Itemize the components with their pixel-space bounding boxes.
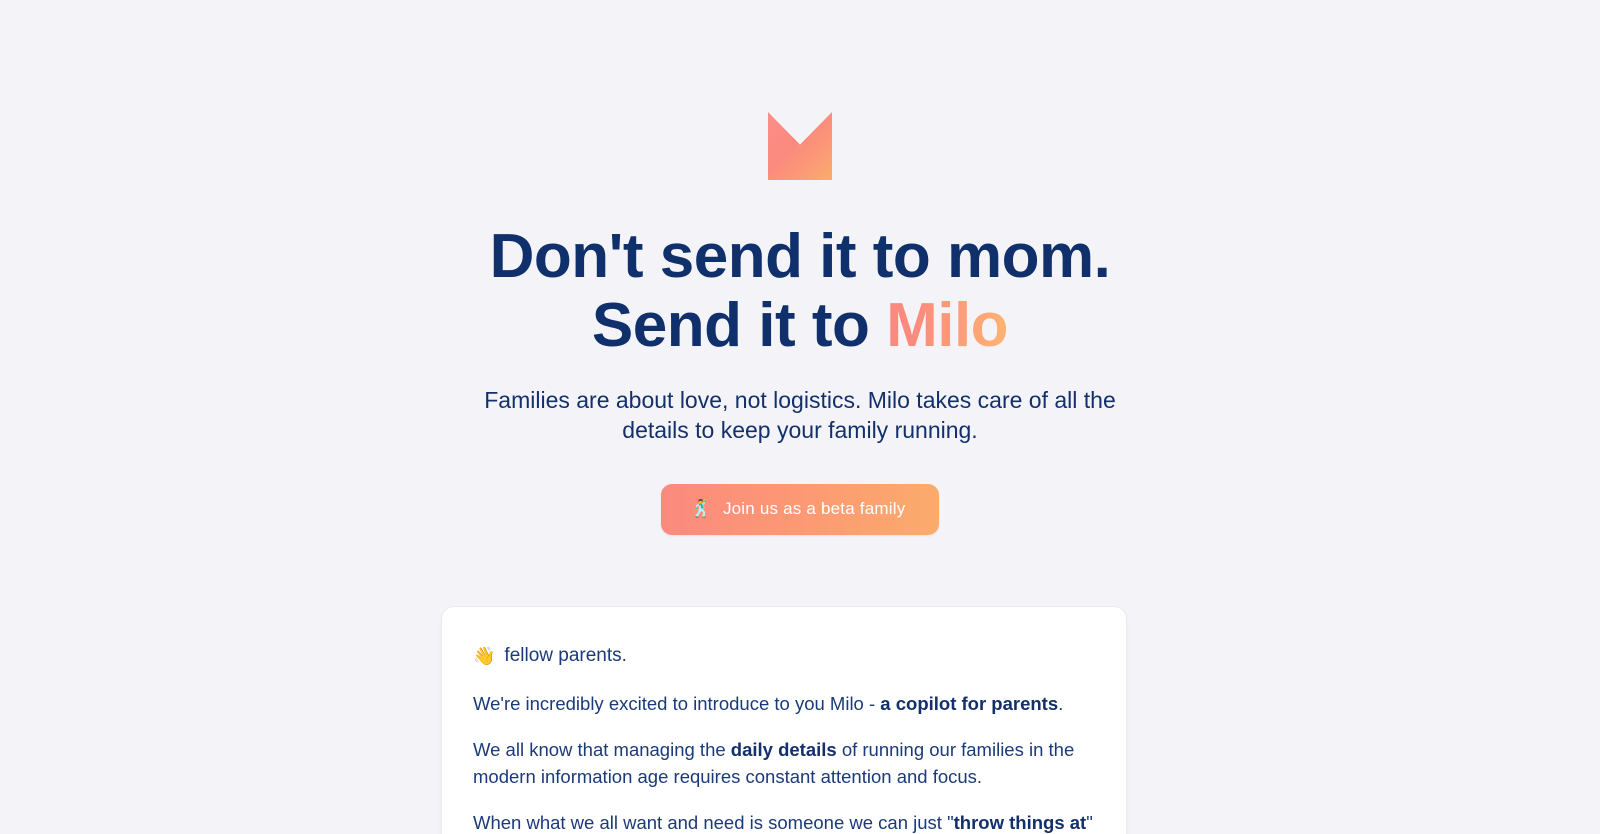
waving-hand-emoji: 👋 bbox=[473, 647, 495, 665]
dancing-person-emoji: 🕺 bbox=[691, 500, 712, 517]
letter-paragraph-daily-details: We all know that managing the daily deta… bbox=[473, 736, 1094, 790]
letter-emphasis: throw things at bbox=[954, 812, 1087, 833]
headline-line-1: Don't send it to mom. bbox=[490, 222, 1111, 291]
letter-emphasis: a copilot for parents bbox=[880, 693, 1058, 714]
headline-brand-name: Milo bbox=[886, 291, 1008, 360]
join-beta-family-button[interactable]: 🕺 Join us as a beta family bbox=[661, 484, 940, 535]
letter-paragraph-throw-things: When what we all want and need is someon… bbox=[473, 809, 1094, 834]
letter-card: 👋 fellow parents. We're incredibly excit… bbox=[441, 606, 1127, 834]
letter-text: When what we all want and need is someon… bbox=[473, 812, 954, 833]
letter-emphasis: daily details bbox=[731, 739, 837, 760]
hero-section: Don't send it to mom. Send it to Milo Fa… bbox=[0, 0, 1600, 535]
page-title: Don't send it to mom. Send it to Milo bbox=[490, 222, 1111, 361]
letter-text: We all know that managing the bbox=[473, 739, 731, 760]
hero-subhead: Families are about love, not logistics. … bbox=[470, 385, 1130, 446]
letter-text: . bbox=[1058, 693, 1063, 714]
letter-body: We're incredibly excited to introduce to… bbox=[473, 690, 1094, 834]
landing-page: Don't send it to mom. Send it to Milo Fa… bbox=[0, 0, 1600, 834]
letter-greeting-text: fellow parents. bbox=[504, 645, 627, 667]
letter-text: We're incredibly excited to introduce to… bbox=[473, 693, 880, 714]
letter-paragraph-intro: We're incredibly excited to introduce to… bbox=[473, 690, 1094, 717]
milo-m-logo-icon bbox=[768, 112, 832, 180]
join-beta-family-label: Join us as a beta family bbox=[723, 499, 905, 519]
letter-greeting: 👋 fellow parents. bbox=[473, 645, 1094, 667]
cta-container: 🕺 Join us as a beta family bbox=[661, 484, 940, 535]
headline-line-2-prefix: Send it to bbox=[592, 291, 886, 360]
